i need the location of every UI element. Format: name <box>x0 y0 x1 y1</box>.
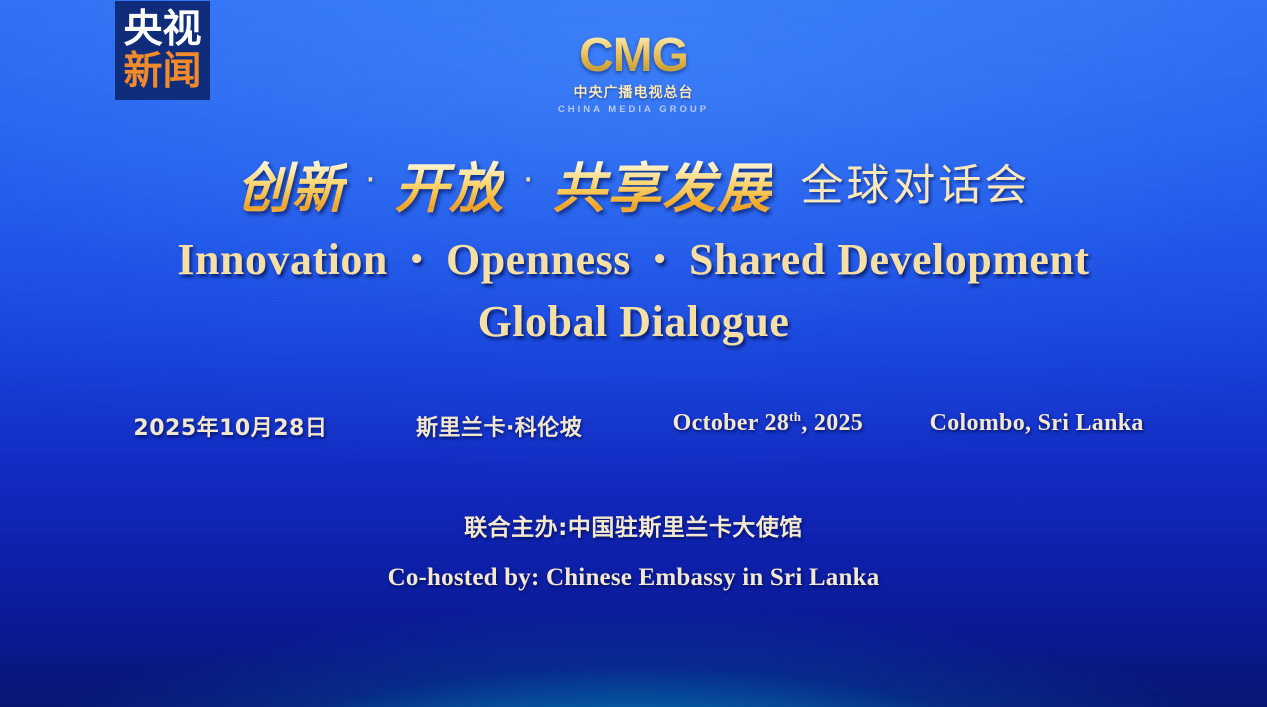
cctv-news-logo: 央视 新闻 <box>115 1 210 100</box>
headline-cn-part-2: 开放 <box>394 157 504 220</box>
event-date-chinese: 2025年10月28日 <box>96 410 365 442</box>
broadcast-title-card: 央视 新闻 CMG 中央广播电视总台 CHINA MEDIA GROUP 创新 … <box>0 0 1267 707</box>
cohost-block: 联合主办:中国驻斯里兰卡大使馆 Co-hosted by: Chinese Em… <box>0 508 1267 592</box>
cmg-english-name: CHINA MEDIA GROUP <box>0 104 1267 115</box>
event-date-english-prefix: October 28 <box>673 410 790 436</box>
headline-en-separator-1: • <box>399 245 434 275</box>
headline-cn-part-1: 创新 <box>237 157 347 220</box>
event-meta-row: 2025年10月28日 斯里兰卡·科伦坡 October 28th, 2025 … <box>0 410 1267 442</box>
headline-cn-separator-2: · <box>509 160 548 200</box>
headline-en-part-3: Shared Development <box>689 235 1090 284</box>
headline-cn-part-3: 共享发展 <box>552 157 772 220</box>
cmg-wordmark: CMG <box>579 32 688 80</box>
event-place-english: Colombo, Sri Lanka <box>902 410 1171 442</box>
headline-en-line2: Global Dialogue <box>0 294 1267 350</box>
headline-en-separator-2: • <box>642 245 677 275</box>
event-date-english: October 28th, 2025 <box>634 410 903 442</box>
headline-en-part-2: Openness <box>446 235 631 284</box>
cctv-news-logo-line2: 新闻 <box>123 52 201 91</box>
headline-cn-suffix: 全球对话会 <box>800 161 1030 211</box>
headline-chinese: 创新 · 开放 · 共享发展 全球对话会 <box>0 144 1267 223</box>
cctv-news-logo-line1: 央视 <box>123 10 201 49</box>
event-place-chinese: 斯里兰卡·科伦坡 <box>365 410 634 442</box>
headline-english: Innovation • Openness • Shared Developme… <box>0 232 1267 350</box>
headline-en-line1: Innovation • Openness • Shared Developme… <box>0 232 1267 294</box>
cohost-chinese: 联合主办:中国驻斯里兰卡大使馆 <box>0 508 1267 542</box>
headline-cn-separator-1: · <box>351 160 390 200</box>
event-date-english-ordinal: th <box>789 409 801 424</box>
headline-en-part-1: Innovation <box>177 235 387 284</box>
cohost-english: Co-hosted by: Chinese Embassy in Sri Lan… <box>0 564 1267 592</box>
event-date-english-suffix: , 2025 <box>801 410 863 436</box>
